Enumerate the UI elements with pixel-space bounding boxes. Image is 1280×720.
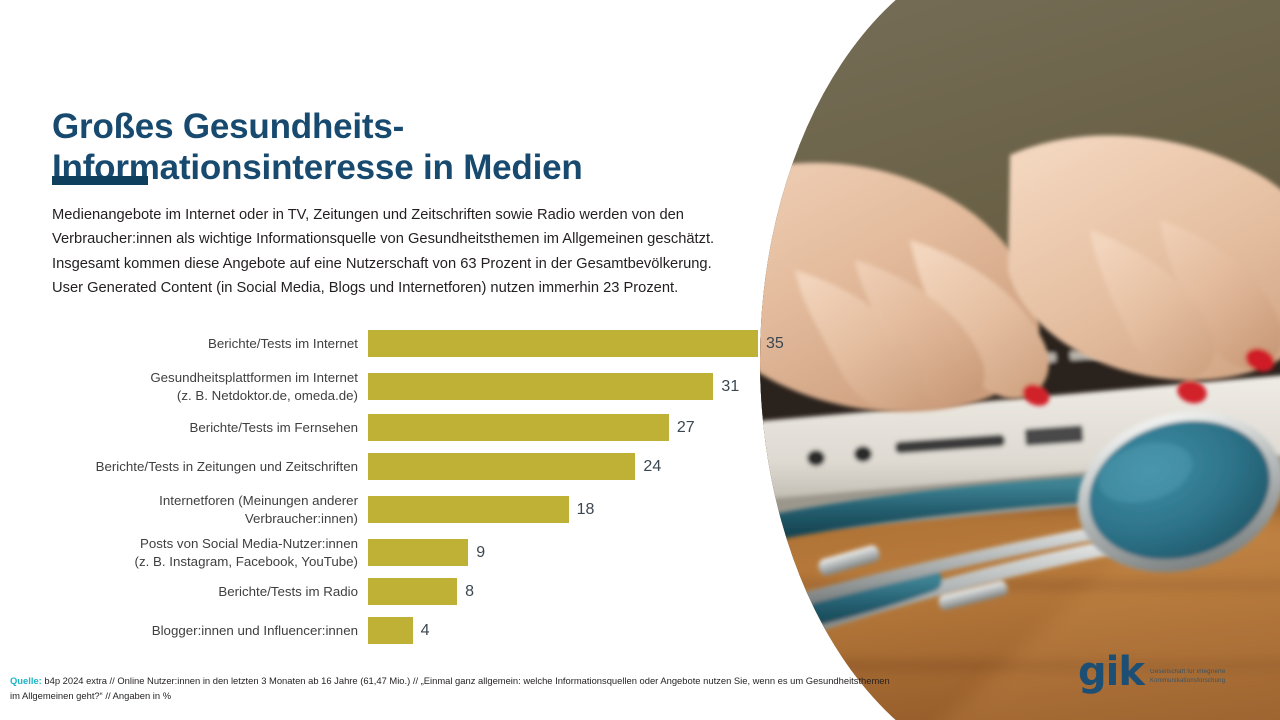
bar-value: 31	[721, 378, 739, 396]
bar-label: Berichte/Tests im Fernsehen	[30, 419, 368, 437]
bar-track: 27	[368, 414, 820, 441]
intro-line: Insgesamt kommen diese Angebote auf eine…	[52, 252, 792, 276]
bar-label: Internetforen (Meinungen andererVerbrauc…	[30, 492, 368, 527]
bar-track: 31	[368, 373, 820, 400]
bar[interactable]	[368, 617, 413, 644]
bar-label: Posts von Social Media-Nutzer:innen(z. B…	[30, 535, 368, 570]
bar-label-line: Internetforen (Meinungen anderer	[30, 492, 358, 510]
bar-value: 9	[476, 544, 485, 562]
bar-track: 4	[368, 617, 820, 644]
bar-label: Berichte/Tests im Internet	[30, 335, 368, 353]
bar-row: Blogger:innen und Influencer:innen4	[30, 617, 820, 644]
bar-row: Posts von Social Media-Nutzer:innen(z. B…	[30, 535, 820, 570]
bar-track: 9	[368, 539, 820, 566]
bar-row: Berichte/Tests im Fernsehen27	[30, 414, 820, 441]
bar[interactable]	[368, 373, 713, 400]
bar-label-line: Berichte/Tests in Zeitungen und Zeitschr…	[30, 458, 358, 476]
title-accent-rule	[52, 176, 148, 185]
bar-label: Berichte/Tests in Zeitungen und Zeitschr…	[30, 458, 368, 476]
bar-row: Berichte/Tests im Radio8	[30, 578, 820, 605]
intro-line: Verbraucher:innen als wichtige Informati…	[52, 227, 792, 251]
source-line-1: b4p 2024 extra // Online Nutzer:innen in…	[44, 675, 700, 686]
bar-label-line: Blogger:innen und Influencer:innen	[30, 622, 358, 640]
bar-label: Blogger:innen und Influencer:innen	[30, 622, 368, 640]
bar-label-line: Berichte/Tests im Radio	[30, 583, 358, 601]
slide: Bild: Unsplash gik Gesellschaft für inte…	[0, 0, 1280, 720]
bar[interactable]	[368, 539, 468, 566]
bar-label-line: (z. B. Netdoktor.de, omeda.de)	[30, 387, 358, 405]
bar-label-line: (z. B. Instagram, Facebook, YouTube)	[30, 553, 358, 571]
bar[interactable]	[368, 330, 758, 357]
bar-label: Berichte/Tests im Radio	[30, 583, 368, 601]
bar-label-line: Verbraucher:innen)	[30, 510, 358, 528]
bar[interactable]	[368, 496, 569, 523]
bar-value: 24	[643, 458, 661, 476]
bar-label-line: Gesundheitsplattformen im Internet	[30, 369, 358, 387]
page-title: Großes Gesundheits-Informationsinteresse…	[52, 107, 732, 189]
bar-value: 4	[421, 622, 430, 640]
hero-photo: Bild: Unsplash	[760, 0, 1280, 720]
bar[interactable]	[368, 414, 669, 441]
bar[interactable]	[368, 578, 457, 605]
bar-value: 35	[766, 335, 784, 353]
bar-label-line: Berichte/Tests im Internet	[30, 335, 358, 353]
gik-logo[interactable]: gik Gesellschaft für integrierte Kommuni…	[1078, 655, 1242, 689]
intro-line: Medienangebote im Internet oder in TV, Z…	[52, 203, 792, 227]
gik-logo-tagline: Gesellschaft für integrierte Kommunikati…	[1150, 668, 1242, 685]
bar-row: Internetforen (Meinungen andererVerbrauc…	[30, 492, 820, 527]
intro-paragraph: Medienangebote im Internet oder in TV, Z…	[52, 203, 792, 301]
gik-logo-wordmark: gik	[1078, 655, 1144, 689]
bar[interactable]	[368, 453, 635, 480]
bar-value: 27	[677, 419, 695, 437]
bar-track: 24	[368, 453, 820, 480]
bar-track: 18	[368, 496, 820, 523]
bar-label-line: Berichte/Tests im Fernsehen	[30, 419, 358, 437]
bar-value: 18	[577, 501, 595, 519]
bar-label: Gesundheitsplattformen im Internet(z. B.…	[30, 369, 368, 404]
hero-photo-illustration	[760, 0, 1280, 720]
bar-row: Berichte/Tests im Internet35	[30, 330, 820, 357]
source-note: Quelle: b4p 2024 extra // Online Nutzer:…	[0, 668, 912, 703]
source-label: Quelle:	[10, 675, 42, 686]
bar-row: Berichte/Tests in Zeitungen und Zeitschr…	[30, 453, 820, 480]
intro-line: User Generated Content (in Social Media,…	[52, 276, 792, 300]
bar-label-line: Posts von Social Media-Nutzer:innen	[30, 535, 358, 553]
bar-chart: Berichte/Tests im Internet35Gesundheitsp…	[30, 330, 820, 654]
bar-value: 8	[465, 583, 474, 601]
bar-track: 8	[368, 578, 820, 605]
bar-row: Gesundheitsplattformen im Internet(z. B.…	[30, 369, 820, 404]
bar-track: 35	[368, 330, 820, 357]
